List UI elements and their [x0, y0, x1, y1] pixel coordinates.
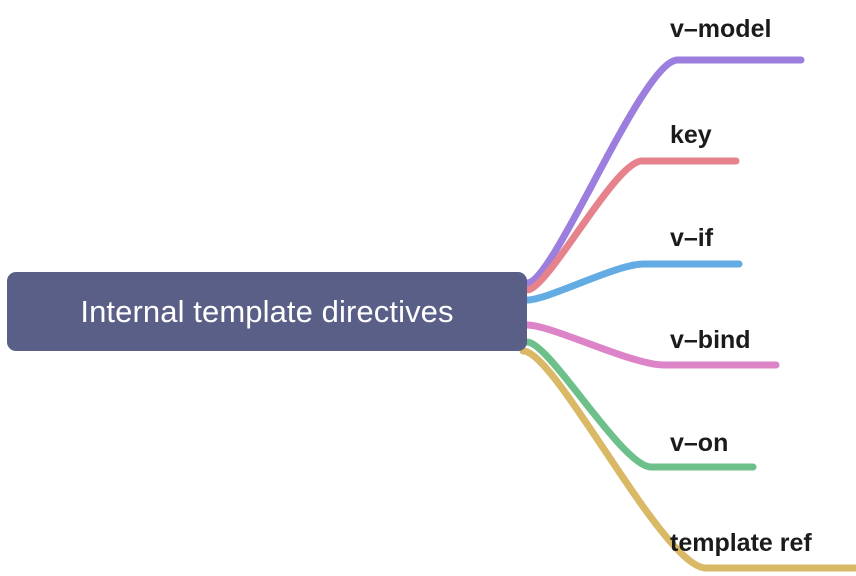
- mind-map-canvas: Internal template directives v–model key…: [0, 0, 856, 576]
- central-node[interactable]: Internal template directives: [7, 272, 527, 351]
- branch-label-template-ref[interactable]: template ref: [670, 531, 812, 556]
- central-node-label: Internal template directives: [80, 296, 453, 327]
- branch-curve-v-if: [527, 264, 739, 300]
- branch-label-v-on[interactable]: v–on: [670, 431, 728, 456]
- branch-label-v-if[interactable]: v–if: [670, 226, 713, 251]
- branch-label-key[interactable]: key: [670, 123, 712, 148]
- branch-label-v-model[interactable]: v–model: [670, 17, 771, 42]
- branch-label-v-bind[interactable]: v–bind: [670, 328, 751, 353]
